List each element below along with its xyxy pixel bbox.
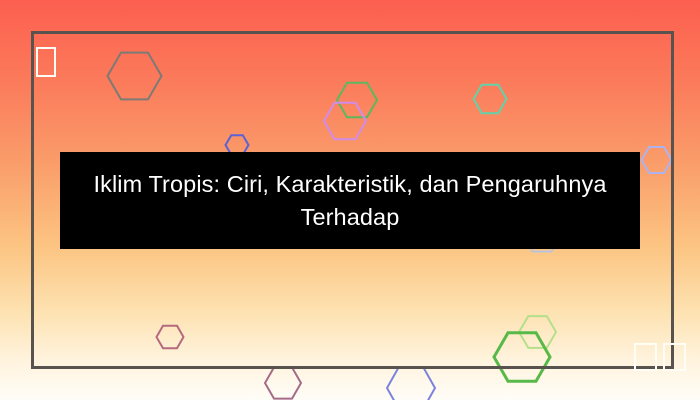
hexagon-mauve-bottom <box>265 367 301 398</box>
hexagon-periwinkle-bottom <box>387 368 435 400</box>
banner-image: Iklim Tropis: Ciri, Karakteristik, dan P… <box>0 0 700 400</box>
hexagon-green-upper <box>337 83 377 118</box>
page-title: Iklim Tropis: Ciri, Karakteristik, dan P… <box>79 168 620 234</box>
hexagon-periwinkle-right <box>642 147 672 173</box>
white-rect-bottom-right-2 <box>663 343 686 371</box>
hexagon-gray-large <box>108 53 162 100</box>
white-rect-top-left <box>36 47 56 77</box>
hexagon-aquamarine <box>474 85 507 114</box>
white-rect-bottom-right-1 <box>634 343 657 371</box>
title-plate: Iklim Tropis: Ciri, Karakteristik, dan P… <box>60 152 640 249</box>
hexagon-orchid <box>324 103 366 139</box>
hexagon-green-large <box>494 333 550 381</box>
hexagon-mauve-left <box>157 326 184 349</box>
